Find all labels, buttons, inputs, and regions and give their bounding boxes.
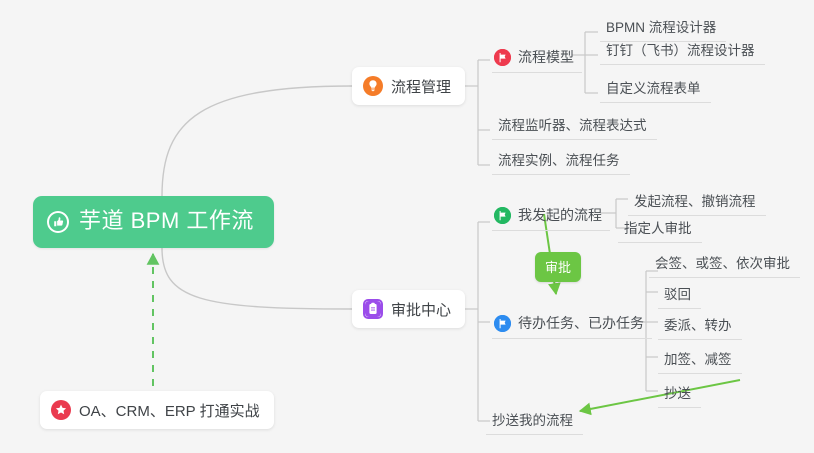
callout-integration[interactable]: OA、CRM、ERP 打通实战 [40, 391, 274, 429]
node-add-remove-sign-label: 加签、减签 [664, 352, 732, 367]
callout-integration-label: OA、CRM、ERP 打通实战 [79, 400, 260, 421]
node-reject[interactable]: 驳回 [658, 280, 701, 309]
node-assignee-approval-label: 指定人审批 [624, 221, 692, 236]
root-label: 芋道 BPM 工作流 [79, 210, 254, 234]
node-dingtalk-designer-label: 钉钉（飞书）流程设计器 [606, 43, 755, 58]
node-custom-form[interactable]: 自定义流程表单 [600, 74, 711, 103]
approval-tag-label: 审批 [545, 260, 571, 275]
node-process-instance-label: 流程实例、流程任务 [498, 153, 620, 168]
node-start-cancel-flow[interactable]: 发起流程、撤销流程 [628, 187, 766, 216]
node-custom-form-label: 自定义流程表单 [606, 81, 701, 96]
branch-process-management[interactable]: 流程管理 [352, 67, 465, 105]
node-dingtalk-designer[interactable]: 钉钉（飞书）流程设计器 [600, 36, 765, 65]
lightbulb-icon [363, 76, 383, 96]
clipboard-icon [363, 299, 383, 319]
branch-process-management-label: 流程管理 [391, 76, 451, 97]
flag-icon [494, 207, 511, 224]
node-process-model-label: 流程模型 [518, 47, 574, 67]
node-cc-my-flows-label: 抄送我的流程 [492, 413, 573, 428]
flag-icon [494, 315, 511, 332]
mindmap-canvas: 芋道 BPM 工作流 流程管理 流程模型 流程监听器、流程表达式 流程实例、流程… [0, 0, 814, 453]
node-process-model[interactable]: 流程模型 [492, 44, 582, 73]
node-todo-done-tasks-label: 待办任务、已办任务 [518, 313, 644, 333]
node-carbon-copy-label: 抄送 [664, 386, 691, 401]
node-bpmn-designer-label: BPMN 流程设计器 [606, 20, 716, 35]
node-cc-my-flows[interactable]: 抄送我的流程 [486, 406, 583, 435]
star-icon [51, 400, 71, 420]
node-assignee-approval[interactable]: 指定人审批 [618, 214, 702, 243]
node-countersign[interactable]: 会签、或签、依次审批 [649, 249, 800, 278]
node-start-cancel-flow-label: 发起流程、撤销流程 [634, 194, 756, 209]
node-my-initiated-flows[interactable]: 我发起的流程 [492, 202, 610, 231]
node-delegate-transfer[interactable]: 委派、转办 [658, 311, 742, 340]
thumbs-up-icon [47, 211, 69, 233]
link-root-to-approval [162, 248, 352, 309]
node-process-instance[interactable]: 流程实例、流程任务 [492, 146, 630, 175]
flag-icon [494, 49, 511, 66]
approval-tag[interactable]: 审批 [535, 252, 581, 282]
root-node[interactable]: 芋道 BPM 工作流 [33, 196, 274, 248]
node-countersign-label: 会签、或签、依次审批 [655, 256, 790, 271]
link-root-to-process [162, 86, 352, 196]
branch-approval-center[interactable]: 审批中心 [352, 290, 465, 328]
node-my-initiated-flows-label: 我发起的流程 [518, 205, 602, 225]
node-process-listener-label: 流程监听器、流程表达式 [498, 118, 647, 133]
node-reject-label: 驳回 [664, 287, 691, 302]
node-add-remove-sign[interactable]: 加签、减签 [658, 345, 742, 374]
branch-approval-center-label: 审批中心 [391, 299, 451, 320]
node-delegate-transfer-label: 委派、转办 [664, 318, 732, 333]
node-todo-done-tasks[interactable]: 待办任务、已办任务 [492, 310, 652, 339]
node-process-listener[interactable]: 流程监听器、流程表达式 [492, 111, 657, 140]
node-carbon-copy[interactable]: 抄送 [658, 379, 701, 408]
